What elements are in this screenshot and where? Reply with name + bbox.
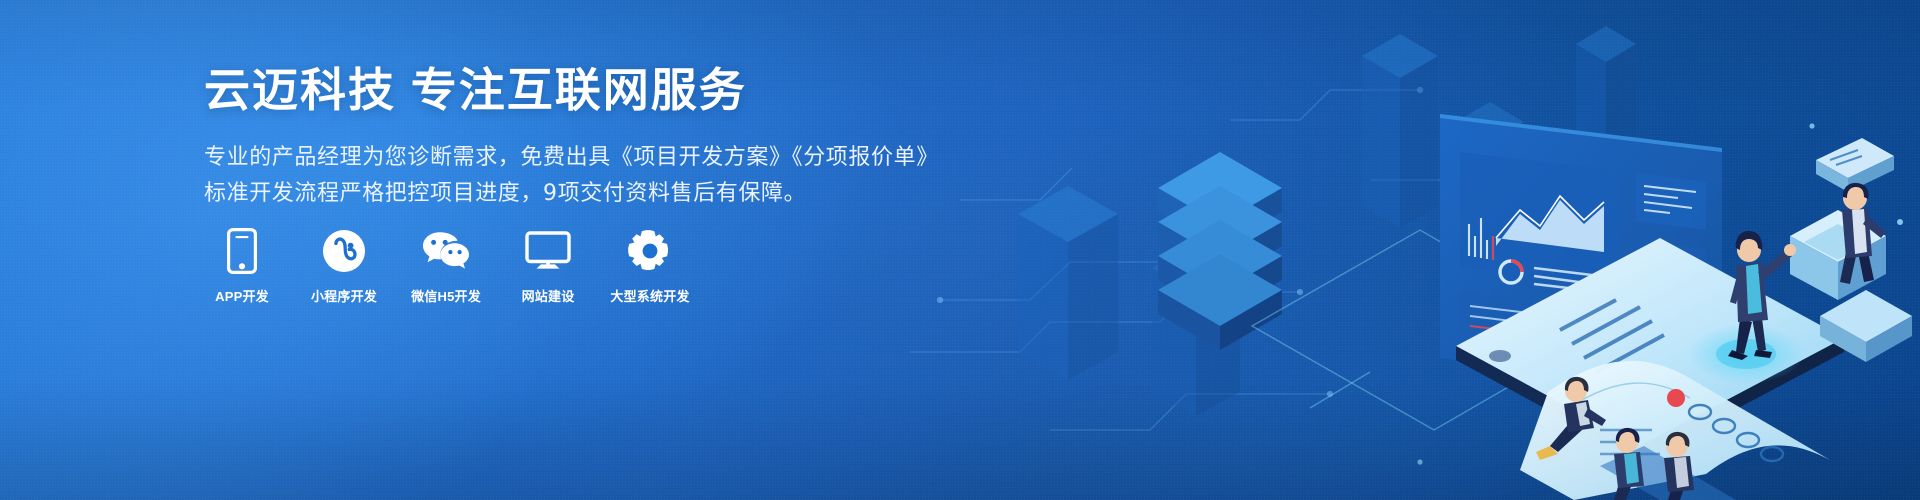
service-label: APP开发 — [215, 286, 269, 305]
hero-copy: 云迈科技 专注互联网服务 专业的产品经理为您诊断需求，免费出具《项目开发方案》《… — [204, 62, 939, 212]
service-label: 大型系统开发 — [610, 286, 689, 305]
mini-program-icon — [322, 228, 366, 274]
page-title: 云迈科技 专注互联网服务 — [204, 62, 939, 118]
subtitle-line-2: 标准开发流程严格把控项目进度，9项交付资料售后有保障。 — [204, 176, 939, 212]
service-label: 网站建设 — [522, 286, 575, 305]
service-item-large-system[interactable]: 大型系统开发 — [612, 228, 688, 305]
service-label: 小程序开发 — [311, 286, 377, 305]
hero-subtitle: 专业的产品经理为您诊断需求，免费出具《项目开发方案》《分项报价单》 标准开发流程… — [204, 140, 939, 212]
subtitle-line-1: 专业的产品经理为您诊断需求，免费出具《项目开发方案》《分项报价单》 — [204, 140, 939, 176]
service-label: 微信H5开发 — [411, 286, 481, 305]
service-item-wechat-h5[interactable]: 微信H5开发 — [408, 228, 484, 305]
mobile-phone-icon — [227, 228, 257, 274]
hero-banner: 云迈科技 专注互联网服务 专业的产品经理为您诊断需求，免费出具《项目开发方案》《… — [0, 0, 1920, 500]
service-item-website[interactable]: 网站建设 — [510, 228, 586, 305]
service-list: APP开发 小程序开发 — [204, 228, 688, 305]
wechat-icon — [421, 228, 471, 274]
monitor-icon — [525, 228, 571, 274]
gear-icon — [628, 228, 672, 274]
service-item-app[interactable]: APP开发 — [204, 228, 280, 305]
service-item-mini-program[interactable]: 小程序开发 — [306, 228, 382, 305]
